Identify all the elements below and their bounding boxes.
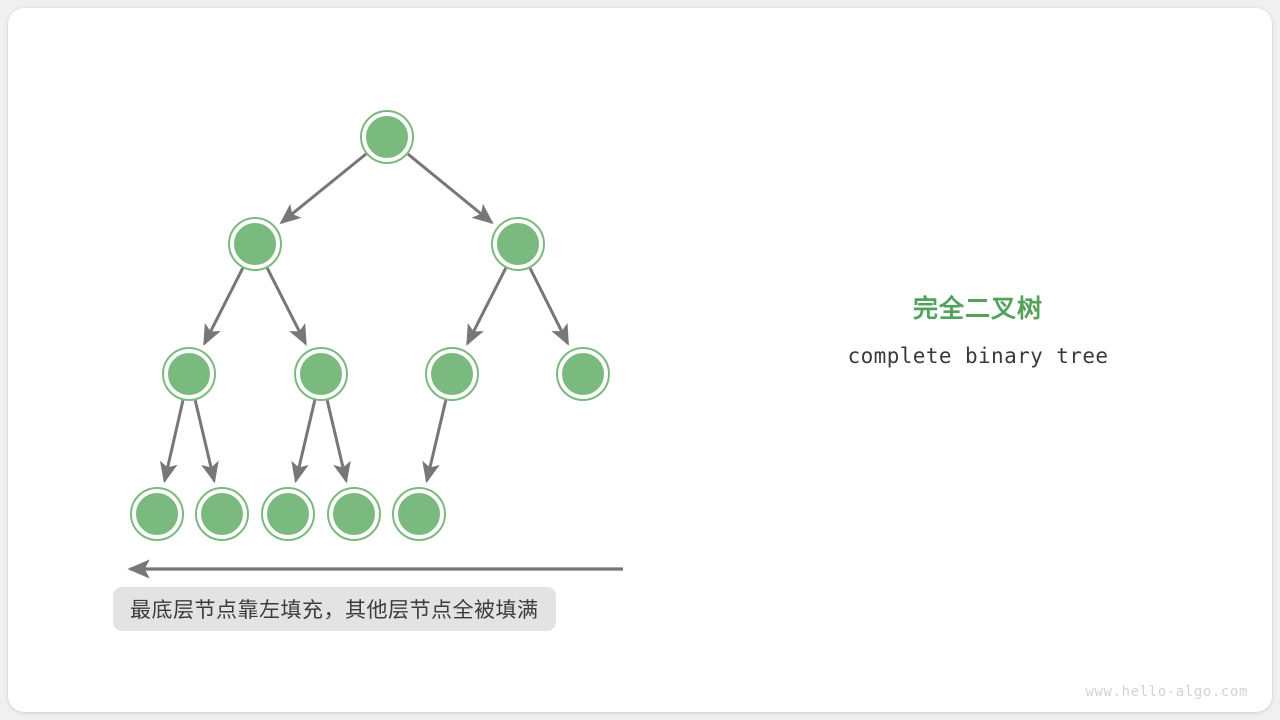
tree-node-circle [332,492,376,536]
tree-node-circle [496,222,540,266]
tree-node [196,488,248,540]
tree-edge [467,268,505,344]
screenshot-stage: 最底层节点靠左填充，其他层节点全被填满 完全二叉树 complete binar… [0,0,1280,720]
tree-node [262,488,314,540]
tree-node-circle [561,352,605,396]
tree-node-circle [233,222,277,266]
tree-node [131,488,183,540]
tree-node [393,488,445,540]
tree-node [361,111,413,163]
tree-node-circle [200,492,244,536]
tree-node-circle [430,352,474,396]
tree-node-circle [299,352,343,396]
legend-block: 完全二叉树 complete binary tree [768,294,1188,368]
tree-edge [408,154,492,222]
tree-node-circle [167,352,211,396]
tree-node [328,488,380,540]
tree-edge [165,400,183,481]
tree-edges [165,154,568,481]
tree-edge [327,400,346,481]
tree-edge [530,268,568,343]
watermark-label: www.hello-algo.com [1085,684,1248,700]
legend-subtitle: complete binary tree [768,344,1188,368]
tree-edge [427,400,446,481]
tree-node [163,348,215,400]
tree-node [426,348,478,400]
tree-node-circle [365,115,409,159]
tree-node-circle [397,492,441,536]
tree-nodes [131,111,609,540]
tree-node [557,348,609,400]
tree-edge [195,400,214,481]
tree-node [295,348,347,400]
tree-edge [204,268,242,344]
tree-node-circle [135,492,179,536]
legend-title: 完全二叉树 [768,294,1188,324]
tree-edge [281,154,366,223]
tree-edge [267,268,305,344]
caption-box: 最底层节点靠左填充，其他层节点全被填满 [113,587,556,631]
tree-edge [296,400,315,481]
diagram-card: 最底层节点靠左填充，其他层节点全被填满 完全二叉树 complete binar… [8,8,1272,712]
caption-label: 最底层节点靠左填充，其他层节点全被填满 [130,594,539,624]
tree-node [492,218,544,270]
tree-node [229,218,281,270]
tree-node-circle [266,492,310,536]
